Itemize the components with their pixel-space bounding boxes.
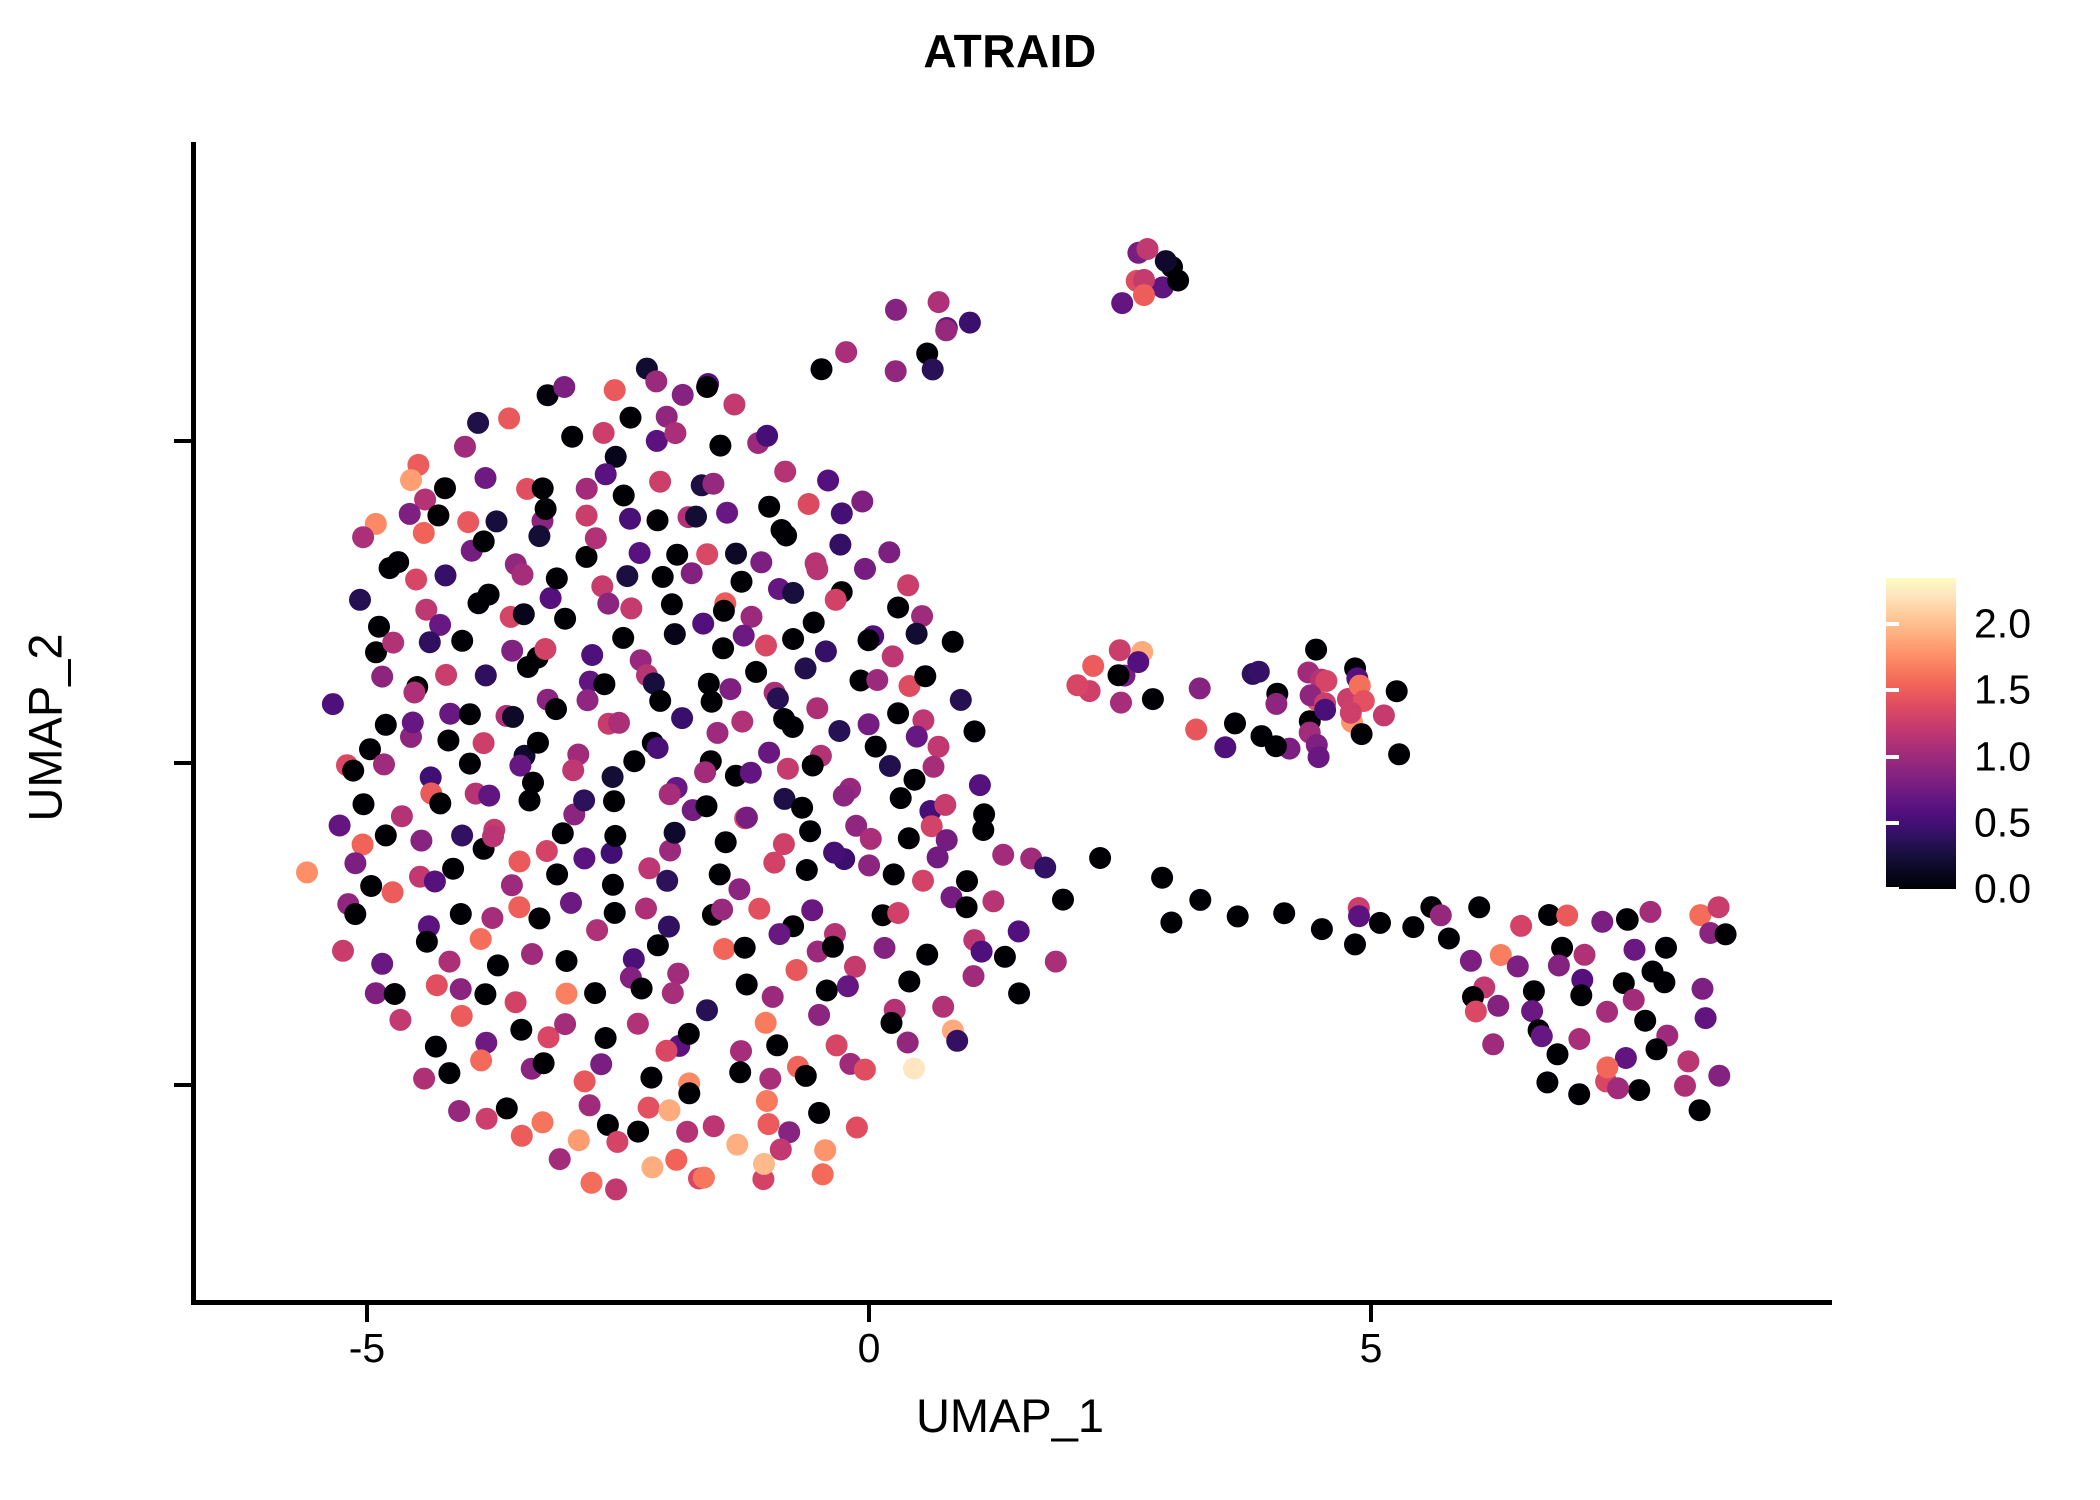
scatter-point [942, 631, 964, 653]
scatter-point [573, 789, 595, 811]
scatter-point [666, 544, 688, 566]
scatter-point [332, 940, 354, 962]
scatter-point [1596, 1001, 1618, 1023]
scatter-point [726, 1134, 748, 1156]
scatter-point [638, 1097, 660, 1119]
scatter-point [584, 982, 606, 1004]
scatter-point [681, 562, 703, 584]
scatter-point [1487, 995, 1509, 1017]
scatter-point [561, 426, 583, 448]
scatter-point [427, 504, 449, 526]
scatter-point [576, 546, 598, 568]
scatter-point [745, 661, 767, 683]
scatter-point [619, 508, 641, 530]
scatter-point [922, 358, 944, 380]
scatter-point [1547, 1043, 1569, 1065]
scatter-point [535, 498, 557, 520]
scatter-point [782, 582, 804, 604]
scatter-point [1314, 699, 1336, 721]
scatter-point [822, 936, 844, 958]
scatter-point [994, 946, 1016, 968]
scatter-point [416, 931, 438, 953]
scatter-point [604, 902, 626, 924]
scatter-point [748, 898, 770, 920]
scatter-point [595, 463, 617, 485]
scatter-point [858, 713, 880, 735]
scatter-point [473, 530, 495, 552]
scatter-point [844, 956, 866, 978]
scatter-point [487, 954, 509, 976]
scatter-point [854, 558, 876, 580]
scatter-point [1574, 944, 1596, 966]
scatter-point [382, 632, 404, 654]
scatter-point [658, 916, 680, 938]
scatter-point [1715, 923, 1737, 945]
scatter-point [774, 461, 796, 483]
scatter-point [1008, 920, 1030, 942]
scatter-point [659, 1099, 681, 1121]
scatter-point [854, 1059, 876, 1081]
scatter-point [898, 827, 920, 849]
scatter-point [1653, 971, 1675, 993]
scatter-point [481, 907, 503, 929]
scatter-point [803, 612, 825, 634]
scatter-point [753, 1153, 775, 1175]
colorbar-tick-right [2073, 688, 2086, 692]
scatter-point [482, 825, 504, 847]
scatter-point [1591, 911, 1613, 933]
scatter-point [360, 875, 382, 897]
page-title: ATRAID [0, 24, 2020, 78]
scatter-point [608, 712, 630, 734]
scatter-point [631, 978, 653, 1000]
scatter-point [478, 785, 500, 807]
scatter-point [459, 703, 481, 725]
scatter-point [887, 902, 909, 924]
scatter-point [707, 722, 729, 744]
scatter-point [604, 379, 626, 401]
scatter-point [638, 857, 660, 879]
scatter-point [678, 1082, 700, 1104]
scatter-point [528, 525, 550, 547]
scatter-point [379, 557, 401, 579]
scatter-point [812, 1163, 834, 1185]
scatter-point [992, 844, 1014, 866]
scatter-point [649, 690, 671, 712]
scatter-point [573, 847, 595, 869]
scatter-point [375, 714, 397, 736]
scatter-point [664, 623, 686, 645]
scatter-point [969, 774, 991, 796]
scatter-point [527, 732, 549, 754]
scatter-point [692, 613, 714, 635]
scatter-point [1308, 746, 1330, 768]
scatter-point [400, 469, 422, 491]
scatter-point [897, 1032, 919, 1054]
scatter-point [775, 525, 797, 547]
scatter-point [576, 478, 598, 500]
colorbar-tick-left [1886, 688, 1899, 692]
scatter-point [1189, 889, 1211, 911]
scatter-point [769, 923, 791, 945]
scatter-point [1568, 1083, 1590, 1105]
scatter-point [750, 551, 772, 573]
scatter-point [627, 1121, 649, 1143]
scatter-point [762, 986, 784, 1008]
scatter-point [713, 938, 735, 960]
scatter-point [734, 937, 756, 959]
scatter-point [510, 1019, 532, 1041]
scatter-point [1695, 1007, 1717, 1029]
scatter-point [767, 687, 789, 709]
scatter-point [629, 542, 651, 564]
scatter-point [502, 706, 524, 728]
scatter-point [501, 640, 523, 662]
scatter-point [927, 846, 949, 868]
scatter-point [545, 698, 567, 720]
scatter-point [837, 975, 859, 997]
scatter-point [344, 903, 366, 925]
scatter-point [696, 376, 718, 398]
colorbar-tick-right [2073, 622, 2086, 626]
scatter-point [612, 627, 634, 649]
scatter-point [581, 644, 603, 666]
scatter-point [528, 907, 550, 929]
scatter-point [806, 558, 828, 580]
scatter-point [816, 980, 838, 1002]
scatter-point [553, 376, 575, 398]
scatter-point [1151, 867, 1173, 889]
y-tick-mark [174, 1083, 191, 1087]
scatter-point [1066, 674, 1088, 696]
scatter-point [475, 467, 497, 489]
scatter-point [403, 682, 425, 704]
scatter-point [740, 762, 762, 784]
scatter-point [532, 1111, 554, 1133]
scatter-point [1224, 712, 1246, 734]
scatter-point [1265, 735, 1287, 757]
scatter-point [1430, 904, 1452, 926]
scatter-point [887, 597, 909, 619]
scatter-point [1388, 743, 1410, 765]
scatter-point [1708, 1065, 1730, 1087]
x-tick-mark [365, 1305, 369, 1322]
scatter-point [1468, 896, 1490, 918]
scatter-point [709, 863, 731, 885]
scatter-point [846, 1117, 868, 1139]
scatter-point [613, 485, 635, 507]
scatter-point [647, 509, 669, 531]
scatter-point [1465, 1001, 1487, 1023]
scatter-point [581, 1172, 603, 1194]
scatter-point [829, 534, 851, 556]
scatter-point [1052, 889, 1074, 911]
scatter-point [296, 861, 318, 883]
colorbar-legend[interactable]: 2.01.51.00.50.0 [1886, 578, 2086, 898]
scatter-point [468, 592, 490, 614]
scatter-point [1348, 905, 1370, 927]
x-tick-label: 0 [858, 1325, 881, 1372]
scatter-point [890, 787, 912, 809]
scatter-point [878, 541, 900, 563]
scatter-point [501, 874, 523, 896]
scatter-point [963, 965, 985, 987]
scatter-point [693, 1167, 715, 1189]
scatter-point [935, 319, 957, 341]
scatter-point [802, 755, 824, 777]
colorbar-tick-left [1886, 887, 1899, 891]
scatter-point [1265, 693, 1287, 715]
scatter-point [755, 635, 777, 657]
scatter-point [1351, 723, 1373, 745]
scatter-point [467, 412, 489, 434]
scatter-point [932, 996, 954, 1018]
scatter-point [928, 736, 950, 758]
scatter-point [729, 1061, 751, 1083]
scatter-point [676, 1121, 698, 1143]
scatter-point [1646, 1038, 1668, 1060]
scatter-point [556, 950, 578, 972]
scatter-point [641, 1156, 663, 1178]
scatter-point [1556, 905, 1578, 927]
scatter-point [410, 830, 432, 852]
scatter-point [881, 1012, 903, 1034]
scatter-point [1634, 1010, 1656, 1032]
scatter-point [620, 597, 642, 619]
scatter-point [635, 898, 657, 920]
scatter-point [606, 1131, 628, 1153]
scatter-point [808, 1102, 830, 1124]
scatter-point [1109, 639, 1131, 661]
scatter-point [1160, 912, 1182, 934]
scatter-point [1510, 915, 1532, 937]
scatter-point [505, 991, 527, 1013]
scatter-point [429, 792, 451, 814]
scatter-point [647, 934, 669, 956]
scatter-point [496, 1097, 518, 1119]
scatter-point [1677, 1050, 1699, 1072]
scatter-point [532, 477, 554, 499]
scatter-point [656, 870, 678, 892]
scatter-point [851, 491, 873, 513]
scatter-point [597, 593, 619, 615]
scatter-point [814, 1139, 836, 1161]
scatter-point [1142, 688, 1164, 710]
scatter-point [1344, 933, 1366, 955]
scatter-point [733, 625, 755, 647]
scatter-point [815, 640, 837, 662]
colorbar-tick-left [1886, 755, 1899, 759]
scatter-point [782, 716, 804, 738]
scatter-point [736, 807, 758, 829]
scatter-point [1692, 978, 1714, 1000]
scatter-point [923, 756, 945, 778]
scatter-point [782, 628, 804, 650]
scatter-point [329, 815, 351, 837]
scatter-point [435, 664, 457, 686]
scatter-point [671, 707, 693, 729]
scatter-point [1689, 1099, 1711, 1121]
scatter-point [424, 871, 446, 893]
scatter-point [1708, 896, 1730, 918]
scatter-point [1674, 1075, 1696, 1097]
scatter-point [405, 569, 427, 591]
scatter-point [758, 742, 780, 764]
scatter-point [556, 983, 578, 1005]
scatter-point [451, 825, 473, 847]
scatter-point [1340, 702, 1362, 724]
scatter-point [470, 1049, 492, 1071]
scatter-point [906, 623, 928, 645]
scatter-point [719, 678, 741, 700]
scatter-point [579, 1094, 601, 1116]
scatter-point [1167, 270, 1189, 292]
scatter-point [1137, 238, 1159, 260]
x-axis-line [191, 1300, 1832, 1305]
scatter-point [716, 502, 738, 524]
scatter-point [709, 435, 731, 457]
scatter-point [595, 1027, 617, 1049]
scatter-point [826, 1034, 848, 1056]
scatter-point [741, 606, 763, 628]
scatter-point [1045, 951, 1067, 973]
scatter-point [562, 759, 584, 781]
scatter-point [755, 1012, 777, 1034]
scatter-point [796, 859, 818, 881]
scatter-point [1311, 918, 1333, 940]
scatter-point [798, 493, 820, 515]
scatter-point [1438, 928, 1460, 950]
scatter-point [1507, 955, 1529, 977]
scatter-point [498, 407, 520, 429]
scatter-point [549, 1148, 571, 1170]
scatter-point [898, 971, 920, 993]
scatter-point [791, 797, 813, 819]
scatter-point [373, 753, 395, 775]
scatter-point [972, 819, 994, 841]
scatter-point [474, 983, 496, 1005]
scatter-point [906, 726, 928, 748]
scatter-point [342, 760, 364, 782]
scatter-point [512, 564, 534, 586]
scatter-point [382, 881, 404, 903]
scatter-point [831, 502, 853, 524]
scatter-point [1521, 1000, 1543, 1022]
scatter-point [730, 1040, 752, 1062]
x-tick-mark [1369, 1305, 1373, 1322]
scatter-point [352, 834, 374, 856]
scatter-point [513, 603, 535, 625]
scatter-point [725, 543, 747, 565]
scatter-point [703, 1115, 725, 1137]
scatter-point [795, 1065, 817, 1087]
scatter-point [883, 863, 905, 885]
scatter-point [602, 874, 624, 896]
scatter-point [971, 941, 993, 963]
scatter-point [1628, 1079, 1650, 1101]
scatter-point [322, 693, 344, 715]
scatter-point [665, 1149, 687, 1171]
colorbar-tick-right [2073, 821, 2086, 825]
scatter-point [517, 656, 539, 678]
scatter-point [439, 951, 461, 973]
scatter-point [645, 370, 667, 392]
scatter-point [835, 341, 857, 363]
scatter-point [956, 896, 978, 918]
scatter-point [546, 863, 568, 885]
umap-feature-plot: ATRAID -505 40-4 UMAP_1 UMAP_2 2.01.51.0… [0, 0, 2100, 1500]
scatter-point [451, 1005, 473, 1027]
scatter-point [1655, 937, 1677, 959]
scatter-point [451, 630, 473, 652]
scatter-point [1082, 655, 1104, 677]
scatter-point [448, 1100, 470, 1122]
scatter-point [806, 697, 828, 719]
scatter-point [574, 1070, 596, 1092]
scatter-point [956, 870, 978, 892]
scatter-point [1482, 1033, 1504, 1055]
scatter-point [1596, 1056, 1618, 1078]
scatter-point [758, 496, 780, 518]
scatter-point [425, 1036, 447, 1058]
scatter-point [799, 820, 821, 842]
scatter-point [475, 664, 497, 686]
scatter-point [426, 974, 448, 996]
colorbar-label: 0.5 [1974, 799, 2031, 846]
scatter-point [661, 593, 683, 615]
scatter-point [662, 982, 684, 1004]
scatter-point [664, 422, 686, 444]
scatter-point [982, 890, 1004, 912]
scatter-point [620, 407, 642, 429]
colorbar-tick-left [1886, 821, 1899, 825]
scatter-point [586, 919, 608, 941]
scatter-point [696, 543, 718, 565]
scatter-point [450, 978, 472, 1000]
scatter-point [627, 1013, 649, 1035]
scatter-point [882, 645, 904, 667]
scatter-point [435, 564, 457, 586]
scatter-point [946, 1030, 968, 1052]
scatter-point [694, 761, 716, 783]
scatter-point [759, 1068, 781, 1090]
scatter-point [763, 852, 785, 874]
scatter-point [1110, 692, 1132, 714]
scatter-point [808, 1004, 830, 1026]
scatter-point [384, 983, 406, 1005]
scatter-point [413, 1068, 435, 1090]
colorbar-tick-right [2073, 755, 2086, 759]
scatter-point [1639, 901, 1661, 923]
x-axis-title: UMAP_1 [0, 1388, 2020, 1443]
colorbar-label: 1.0 [1974, 733, 2031, 780]
scatter-point [728, 878, 750, 900]
scatter-point [554, 1013, 576, 1035]
scatter-point [1623, 989, 1645, 1011]
colorbar-label: 2.0 [1974, 601, 2031, 648]
scatter-point [736, 974, 758, 996]
scatter-point [486, 510, 508, 532]
scatter-point [554, 608, 576, 630]
scatter-point [511, 1125, 533, 1147]
scatter-point [865, 736, 887, 758]
scatter-point [1523, 980, 1545, 1002]
scatter-point [593, 422, 615, 444]
scatter-point [344, 852, 366, 874]
scatter-point [1369, 912, 1391, 934]
scatter-point [454, 436, 476, 458]
scatter-point [825, 589, 847, 611]
